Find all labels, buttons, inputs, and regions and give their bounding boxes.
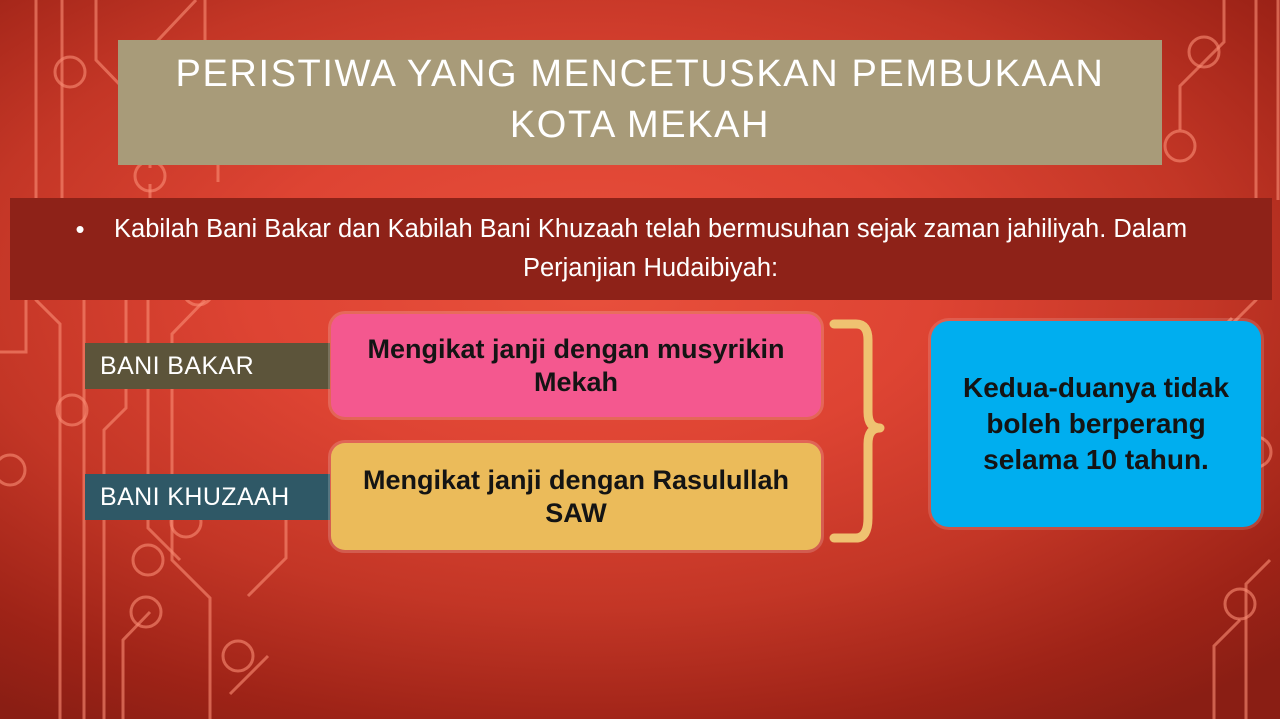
outcome-box: Kedua-duanya tidak boleh berperang selam… bbox=[931, 321, 1261, 527]
slide-title-bar: PERISTIWA YANG MENCETUSKAN PEMBUKAAN KOT… bbox=[118, 40, 1162, 165]
pledge-text: Mengikat janji dengan Rasulullah SAW bbox=[331, 464, 821, 530]
slide-canvas: PERISTIWA YANG MENCETUSKAN PEMBUKAAN KOT… bbox=[0, 0, 1280, 719]
page-title: PERISTIWA YANG MENCETUSKAN PEMBUKAAN KOT… bbox=[176, 49, 1105, 151]
party-label-bani-bakar: BANI BAKAR bbox=[85, 343, 330, 389]
pledge-text: Mengikat janji dengan musyrikin Mekah bbox=[331, 333, 821, 399]
pledge-box-bani-bakar: Mengikat janji dengan musyrikin Mekah bbox=[331, 314, 821, 417]
pledge-box-bani-khuzaah: Mengikat janji dengan Rasulullah SAW bbox=[331, 443, 821, 550]
bullet-point-icon: • bbox=[75, 210, 84, 249]
subtitle-text: Kabilah Bani Bakar dan Kabilah Bani Khuz… bbox=[95, 210, 1207, 288]
party-label-text: BANI BAKAR bbox=[100, 352, 254, 381]
curly-brace-icon bbox=[828, 318, 900, 544]
party-label-text: BANI KHUZAAH bbox=[100, 483, 290, 512]
subtitle-band: • Kabilah Bani Bakar dan Kabilah Bani Kh… bbox=[10, 198, 1272, 300]
outcome-text: Kedua-duanya tidak boleh berperang selam… bbox=[947, 370, 1245, 477]
subtitle-bullet-row: • Kabilah Bani Bakar dan Kabilah Bani Kh… bbox=[75, 210, 1206, 288]
party-label-bani-khuzaah: BANI KHUZAAH bbox=[85, 474, 330, 520]
